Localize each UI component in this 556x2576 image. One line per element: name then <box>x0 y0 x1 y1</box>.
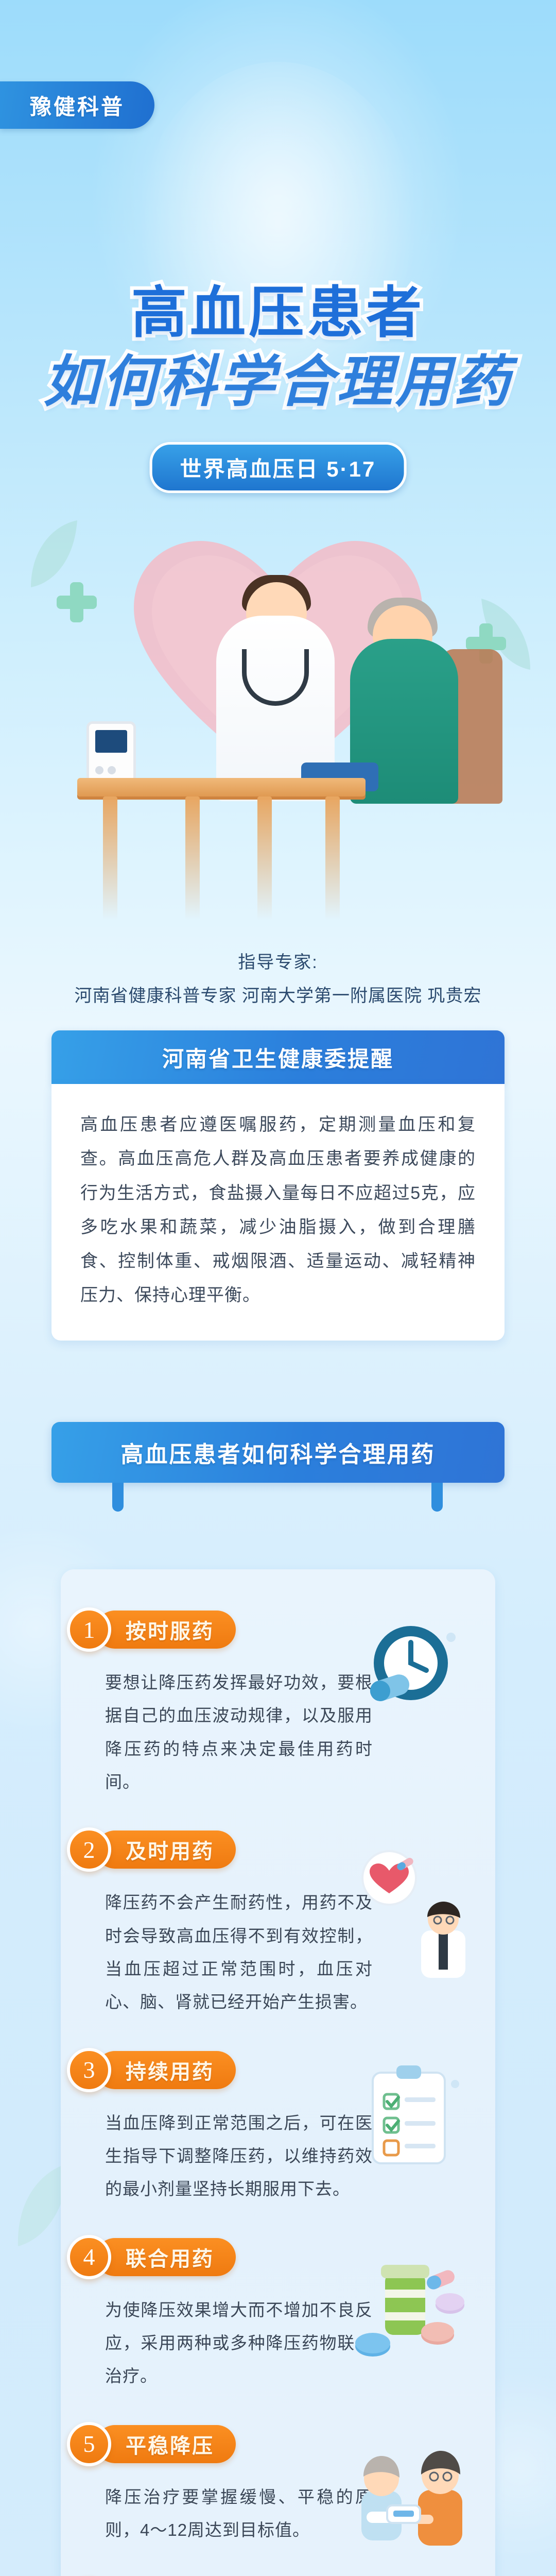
page-title-line1: 高血压患者 <box>0 278 556 347</box>
step-number: 1 <box>83 1616 95 1643</box>
step-number-badge: 1 <box>67 1607 111 1652</box>
steps-panel: 按时服药 1 要想让降压药发挥最好功效，要根据自己的血压波动规律，以及服用降压药… <box>61 1569 495 2576</box>
hanger-right <box>431 1483 443 1512</box>
step-title-pill: 及时用药 <box>96 1831 236 1869</box>
step-text: 降压药不会产生耐药性，用药不及时会导致高血压得不到有效控制，当血压超过正常范围时… <box>105 1886 373 2019</box>
hero-illustration <box>0 520 556 927</box>
step-title: 按时服药 <box>126 1615 214 1645</box>
brand-badge: 豫健科普 <box>0 81 154 129</box>
step-text: 降压治疗要掌握缓慢、平稳的原则，4～12周达到目标值。 <box>105 2481 373 2547</box>
infographic-page: 豫健科普 高血压患者 如何科学合理用药 世界高血压日 5·17 <box>0 0 556 2576</box>
step-text: 为使降压效果增大而不增加不良反应，采用两种或多种降压药物联合治疗。 <box>105 2294 373 2393</box>
step-item: 及时用药 2 降压药不会产生耐药性，用药不及时会导致高血压得不到有效控制，当血压… <box>61 1827 495 2019</box>
step-number: 4 <box>83 2243 95 2270</box>
expert-credit: 指导专家: 河南省健康科普专家 河南大学第一附属医院 巩贵宏 <box>0 948 556 1007</box>
notice-card: 河南省卫生健康委提醒 高血压患者应遵医嘱服药，定期测量血压和复查。高血压高危人群… <box>51 1030 505 1341</box>
step-title: 平稳降压 <box>126 2429 214 2459</box>
step-title: 及时用药 <box>126 1835 214 1865</box>
step-number-badge: 5 <box>67 2422 111 2466</box>
hanger-left <box>112 1483 124 1512</box>
checklist-clipboard-icon <box>349 2063 478 2166</box>
step-number-badge: 4 <box>67 2235 111 2279</box>
notice-card-header: 河南省卫生健康委提醒 <box>51 1030 505 1084</box>
world-hypertension-day-pill: 世界高血压日 5·17 <box>150 442 407 493</box>
steps-section-title: 高血压患者如何科学合理用药 <box>121 1436 436 1469</box>
notice-card-title: 河南省卫生健康委提醒 <box>162 1042 394 1073</box>
step-body: 要想让降压药发挥最好功效，要根据自己的血压波动规律，以及服用降压药的特点来决定最… <box>105 1666 373 1799</box>
heart-organ-doctor-icon <box>349 1848 478 1951</box>
step-number: 2 <box>83 1836 95 1863</box>
step-title: 持续用药 <box>126 2055 214 2085</box>
pills-bottle-icon <box>349 2256 478 2359</box>
expert-label: 指导专家: <box>0 948 556 973</box>
steps-section-header: 高血压患者如何科学合理用药 <box>51 1422 505 1483</box>
step-item: 按时服药 1 要想让降压药发挥最好功效，要根据自己的血压波动规律，以及服用降压药… <box>61 1607 495 1799</box>
step-item: 平稳降压 5 降压治疗要掌握缓慢、平稳的原则，4～12周达到目标值。 <box>61 2422 495 2547</box>
step-body: 降压药不会产生耐药性，用药不及时会导致高血压得不到有效控制，当血压超过正常范围时… <box>105 1886 373 2019</box>
clock-pill-icon <box>349 1617 478 1720</box>
step-body: 降压治疗要掌握缓慢、平稳的原则，4～12周达到目标值。 <box>105 2481 373 2547</box>
step-body: 为使降压效果增大而不增加不良反应，采用两种或多种降压药物联合治疗。 <box>105 2294 373 2393</box>
step-text: 要想让降压药发挥最好功效，要根据自己的血压波动规律，以及服用降压药的特点来决定最… <box>105 1666 373 1799</box>
step-number-badge: 3 <box>67 2048 111 2092</box>
step-title-pill: 持续用药 <box>96 2051 236 2089</box>
step-title: 联合用药 <box>126 2242 214 2272</box>
step-title-pill: 联合用药 <box>96 2238 236 2276</box>
step-text: 当血压降到正常范围之后，可在医生指导下调整降压药，以维持药效的最小剂量坚持长期服… <box>105 2107 373 2206</box>
notice-card-body: 高血压患者应遵医嘱服药，定期测量血压和复查。高血压高危人群及高血压患者要养成健康… <box>51 1084 505 1341</box>
elderly-couple-icon <box>349 2437 478 2540</box>
step-title-pill: 平稳降压 <box>96 2425 236 2463</box>
step-item: 持续用药 3 当血压降到正常范围之后，可在医生指导下调整降压药，以维持药效的最小… <box>61 2048 495 2206</box>
blood-pressure-monitor-icon <box>86 721 136 783</box>
step-body: 当血压降到正常范围之后，可在医生指导下调整降压药，以维持药效的最小剂量坚持长期服… <box>105 2107 373 2206</box>
step-item: 联合用药 4 为使降压效果增大而不增加不良反应，采用两种或多种降压药物联合治疗。 <box>61 2235 495 2393</box>
step-number-badge: 2 <box>67 1827 111 1872</box>
step-number: 5 <box>83 2430 95 2458</box>
desk-legs <box>103 796 340 920</box>
step-title-pill: 按时服药 <box>96 1611 236 1649</box>
world-hypertension-day-label: 世界高血压日 5·17 <box>180 457 376 481</box>
brand-badge-label: 豫健科普 <box>30 90 125 121</box>
expert-value: 河南省健康科普专家 河南大学第一附属医院 巩贵宏 <box>0 981 556 1007</box>
page-title: 高血压患者 如何科学合理用药 <box>0 278 556 416</box>
desk-illustration <box>77 778 366 796</box>
notice-card-text: 高血压患者应遵医嘱服药，定期测量血压和复查。高血压高危人群及高血压患者要养成健康… <box>80 1108 476 1313</box>
step-number: 3 <box>83 2056 95 2083</box>
page-title-line2: 如何科学合理用药 <box>0 347 556 416</box>
